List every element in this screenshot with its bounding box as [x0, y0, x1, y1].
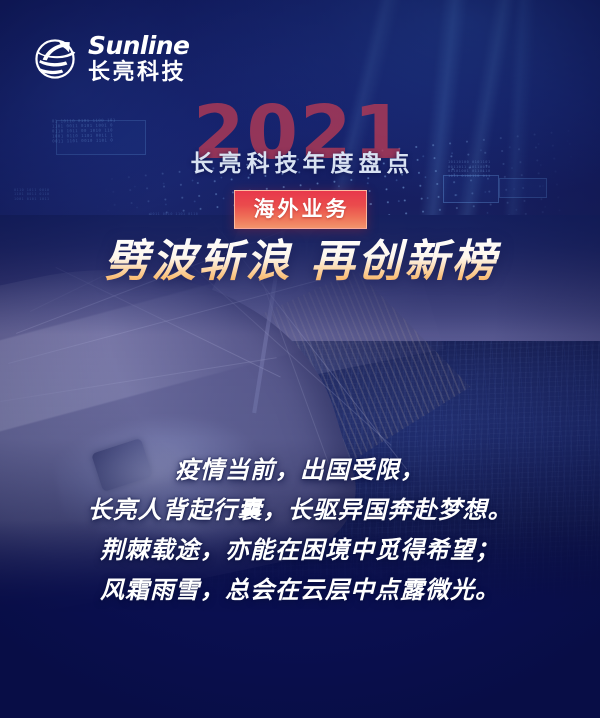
headline-part-2: 再创新榜 — [311, 236, 499, 287]
sunline-globe-arrow-icon — [33, 37, 77, 81]
category-badge: 海外业务 — [234, 190, 367, 229]
logo-name-cn: 长亮科技 — [88, 62, 189, 84]
body-copy: 疫情当前，出国受限， 长亮人背起行囊，长驱异国奔赴梦想。 荆棘载途，亦能在困境中… — [0, 450, 600, 610]
body-line: 风霜雨雪，总会在云层中点露微光。 — [0, 570, 600, 610]
logo-name-en: Sunline — [88, 33, 189, 58]
brand-logo[interactable]: Sunline 长亮科技 — [33, 33, 189, 84]
badge-row: 海外业务 — [0, 190, 600, 229]
page-title: 劈波斩浪再创新榜 — [0, 234, 600, 290]
poster-subtitle: 长亮科技年度盘点 — [0, 150, 600, 178]
body-line: 长亮人背起行囊，长驱异国奔赴梦想。 — [0, 490, 600, 530]
poster-canvas: 01 10110 0101 1100 101 1101 0011 0101 10… — [0, 0, 600, 718]
logo-wordmark: Sunline 长亮科技 — [88, 33, 189, 84]
bottom-solid-band — [0, 612, 600, 718]
body-line: 疫情当前，出国受限， — [0, 450, 600, 490]
body-line: 荆棘载途，亦能在困境中觅得希望； — [0, 530, 600, 570]
headline-part-1: 劈波斩浪 — [105, 236, 293, 287]
